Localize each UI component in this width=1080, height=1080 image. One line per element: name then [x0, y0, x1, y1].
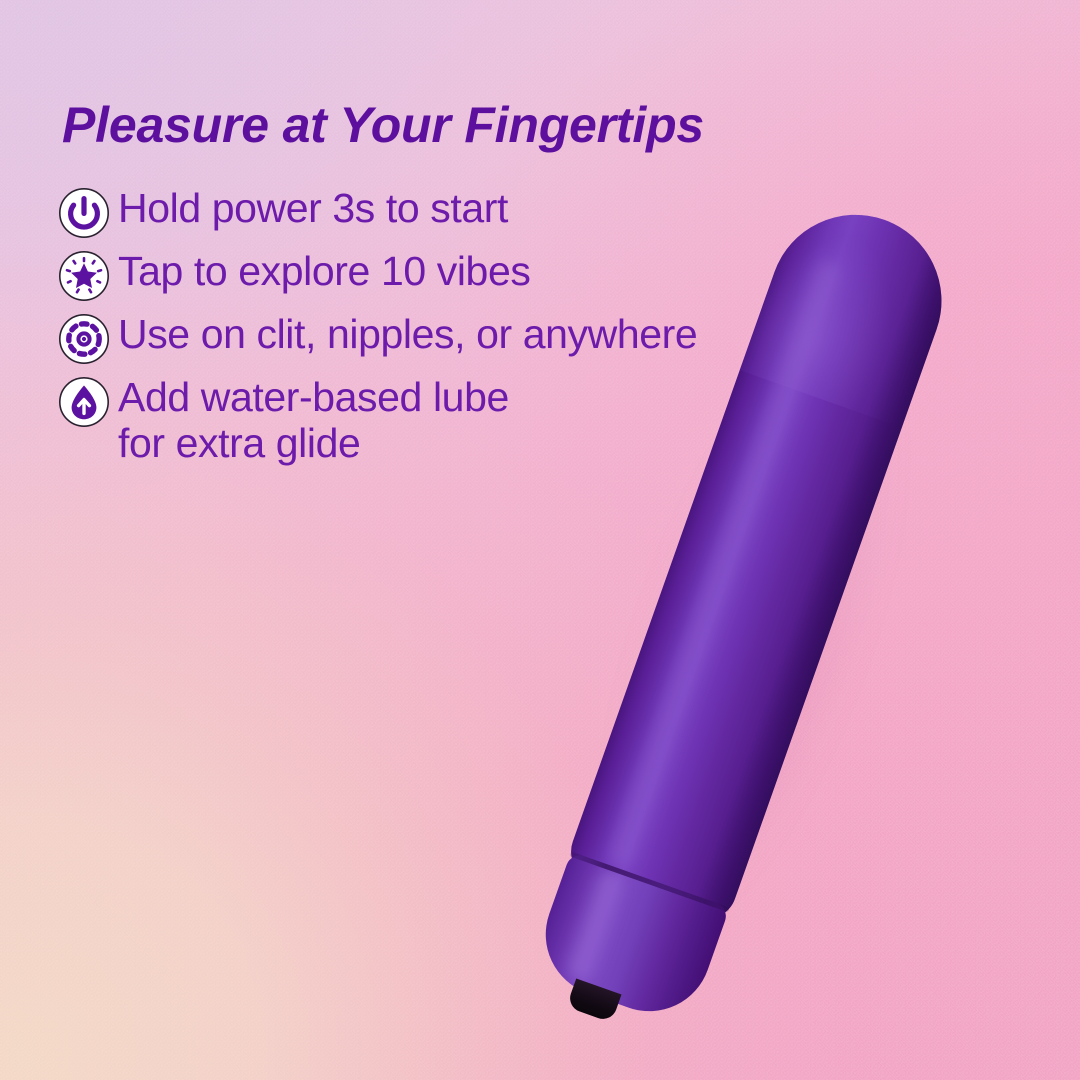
- background-pink-glow: [0, 0, 1080, 1080]
- lube-drop-icon: [58, 376, 110, 428]
- list-item: Tap to explore 10 vibes: [58, 247, 858, 302]
- list-item: Add water-based lube for extra glide: [58, 373, 858, 466]
- list-item-label: Tap to explore 10 vibes: [118, 247, 530, 295]
- list-item-label: Add water-based lube for extra glide: [118, 373, 509, 466]
- feature-list: Hold power 3s to start: [58, 184, 858, 466]
- sparkle-star-icon: [58, 250, 110, 302]
- list-item-label: Use on clit, nipples, or anywhere: [118, 310, 697, 358]
- promo-graphic: Pleasure at Your Fingertips Hold power 3…: [0, 0, 1080, 1080]
- list-item-label: Hold power 3s to start: [118, 184, 508, 232]
- page-title: Pleasure at Your Fingertips: [62, 99, 704, 152]
- list-item: Hold power 3s to start: [58, 184, 858, 239]
- vibration-dots-icon: [58, 313, 110, 365]
- power-icon: [58, 187, 110, 239]
- list-item: Use on clit, nipples, or anywhere: [58, 310, 858, 365]
